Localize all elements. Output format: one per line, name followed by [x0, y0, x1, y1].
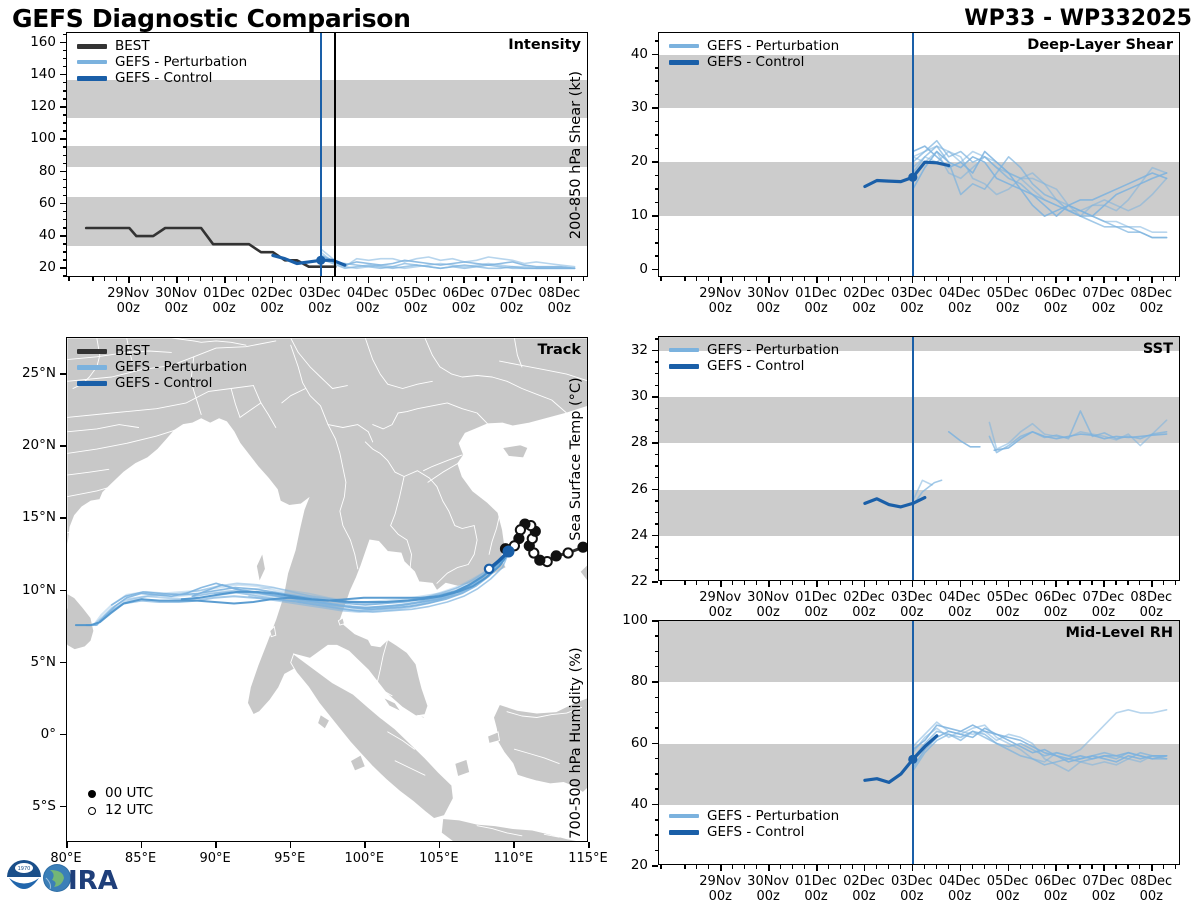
rh-xtick-minor	[1175, 865, 1176, 869]
rh-xtick-mark	[864, 865, 866, 871]
rh-ytick-minor	[655, 758, 659, 760]
rh-xtick-minor	[780, 865, 781, 869]
rh-ytick-minor	[655, 635, 659, 637]
rh-ytick-minor	[655, 620, 659, 622]
rh-xtick-mark	[720, 865, 722, 871]
rh-ytick-minor	[655, 666, 659, 668]
rh-ytick-label: 100	[602, 612, 648, 628]
rh-xtick-minor	[732, 865, 733, 869]
rh-xtick-mark	[1103, 865, 1105, 871]
rh-ytick-minor	[655, 712, 659, 714]
rh-xtick-minor	[900, 865, 901, 869]
rh-legend: GEFS - PerturbationGEFS - Control	[669, 808, 839, 840]
rh-xtick-minor	[1139, 865, 1140, 869]
perturbation-swatch-icon	[669, 814, 699, 818]
rh-legend-item-control: GEFS - Control	[669, 824, 839, 840]
rh-ytick-minor	[655, 773, 659, 775]
rh-ytick-minor	[655, 819, 659, 821]
rh-plot-area: Mid-Level RHGEFS - PerturbationGEFS - Co…	[658, 620, 1180, 865]
noaa-cira-logos: 1970 IRA	[6, 856, 131, 898]
rh-legend-item-perturbation: GEFS - Perturbation	[669, 808, 839, 824]
svg-text:1970: 1970	[18, 866, 31, 872]
rh-xtick-minor	[828, 865, 829, 869]
rh-xtick-minor	[1079, 865, 1080, 869]
cira-logo: IRA	[40, 864, 118, 896]
rh-ylabel: 700-500 hPa Humidity (%)	[568, 647, 584, 838]
rh-xtick-minor	[888, 865, 889, 869]
rh-xtick-minor	[1091, 865, 1092, 869]
rh-ytick-minor	[655, 788, 659, 790]
rh-ytick-label: 20	[602, 857, 648, 873]
rh-ytick-label: 40	[602, 796, 648, 812]
rh-ytick-minor	[655, 804, 659, 806]
rh-xtick-mark	[1055, 865, 1057, 871]
rh-xtick-minor	[840, 865, 841, 869]
rh-ytick-minor	[655, 865, 659, 867]
rh-legend-label: GEFS - Control	[707, 824, 804, 840]
rh-xtick-minor	[1067, 865, 1068, 869]
rh-xtick-minor	[1044, 865, 1045, 869]
rh-xtick-minor	[756, 865, 757, 869]
rh-xtick-minor	[792, 865, 793, 869]
rh-xtick-minor	[708, 865, 709, 869]
rh-ytick-minor	[655, 697, 659, 699]
rh-xtick-minor	[660, 865, 661, 869]
noaa-logo: 1970	[7, 860, 41, 894]
rh-xtick-minor	[1163, 865, 1164, 869]
rh-ytick-minor	[655, 850, 659, 852]
rh-ytick-minor	[655, 743, 659, 745]
panel-rh: Mid-Level RHGEFS - PerturbationGEFS - Co…	[0, 0, 1200, 900]
rh-xtick-minor	[696, 865, 697, 869]
rh-ytick-minor	[655, 651, 659, 653]
rh-legend-label: GEFS - Perturbation	[707, 808, 839, 824]
rh-init-line	[912, 621, 914, 864]
rh-xtick-minor	[684, 865, 685, 869]
rh-xtick-minor	[1020, 865, 1021, 869]
rh-xtick-minor	[744, 865, 745, 869]
logo-group: 1970 IRA	[6, 856, 131, 898]
rh-xtick-minor	[876, 865, 877, 869]
svg-text:IRA: IRA	[68, 866, 118, 896]
xtick-hour: 00z	[1111, 889, 1191, 904]
rh-ytick-minor	[655, 681, 659, 683]
rh-xtick-mark	[768, 865, 770, 871]
control-swatch-icon	[669, 830, 699, 835]
xtick-date: 08Dec	[1111, 874, 1191, 889]
rh-xtick-minor	[852, 865, 853, 869]
rh-xtick-minor	[1032, 865, 1033, 869]
rh-xtick-mark	[960, 865, 962, 871]
rh-xtick-mark	[816, 865, 818, 871]
rh-xtick-minor	[972, 865, 973, 869]
rh-xtick-mark	[1151, 865, 1153, 871]
rh-xtick-minor	[924, 865, 925, 869]
rh-xtick-mark	[1008, 865, 1010, 871]
rh-xtick-minor	[936, 865, 937, 869]
rh-xtick-minor	[984, 865, 985, 869]
rh-ytick-minor	[655, 727, 659, 729]
rh-xtick-minor	[804, 865, 805, 869]
rh-xtick-mark	[912, 865, 914, 871]
rh-ytick-label: 60	[602, 735, 648, 751]
rh-xtick-minor	[996, 865, 997, 869]
rh-ytick-minor	[655, 834, 659, 836]
rh-ytick-label: 80	[602, 673, 648, 689]
rh-panel-title: Mid-Level RH	[1066, 625, 1173, 641]
rh-xtick-minor	[948, 865, 949, 869]
rh-xtick-minor	[1127, 865, 1128, 869]
rh-xtick-minor	[1115, 865, 1116, 869]
